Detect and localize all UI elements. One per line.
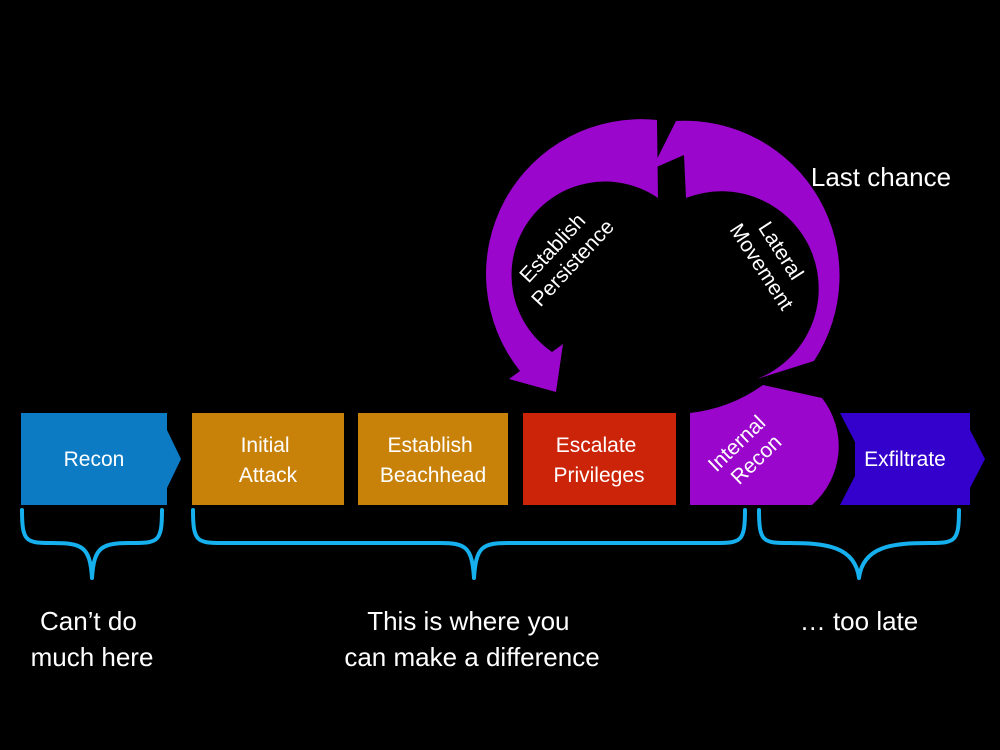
last-chance-note: Last chance: [811, 162, 951, 192]
caption-left: Can’t do much here: [31, 606, 154, 672]
caption-left-line-2: much here: [31, 642, 154, 672]
caption-right: … too late: [800, 606, 919, 636]
brace-middle-group: This is where you can make a difference: [193, 510, 745, 672]
caption-middle: This is where you can make a difference: [344, 606, 599, 672]
brace-right: [759, 510, 959, 578]
diagram-canvas: Establish Persistence Lateral Movement I…: [0, 0, 1000, 750]
brace-left-group: Can’t do much here: [22, 510, 162, 672]
brace-right-group: … too late: [759, 510, 959, 636]
caption-middle-line-1: This is where you: [367, 606, 569, 636]
annotations-layer: Can’t do much here This is where you can…: [0, 0, 1000, 750]
caption-right-line-1: … too late: [800, 606, 919, 636]
caption-middle-line-2: can make a difference: [344, 642, 599, 672]
caption-left-line-1: Can’t do: [40, 606, 137, 636]
brace-middle: [193, 510, 745, 578]
brace-left: [22, 510, 162, 578]
